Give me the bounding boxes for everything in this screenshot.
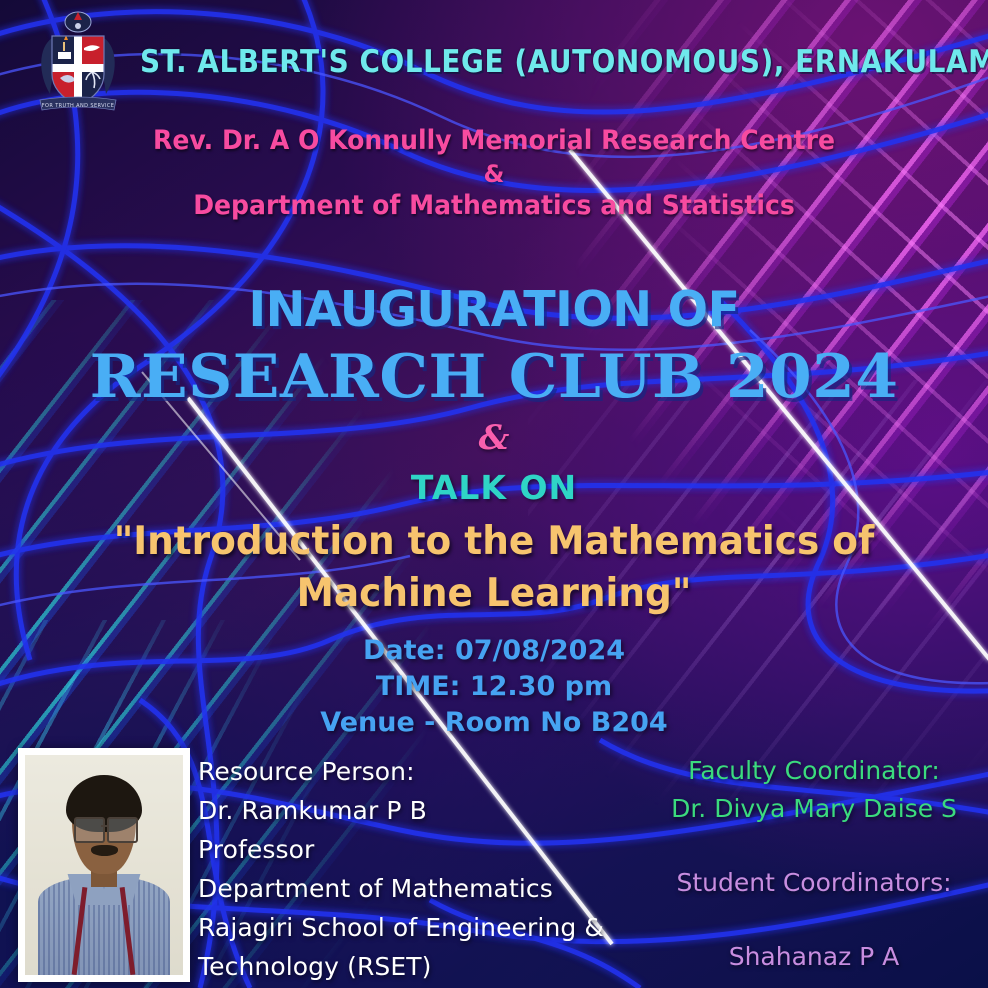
college-name-heading: ST. ALBERT'S COLLEGE (AUTONOMOUS), ERNAK… — [140, 44, 860, 80]
organizer-ampersand: & — [0, 160, 988, 188]
talk-on-label: TALK ON — [0, 468, 988, 507]
resource-person-institution-2: Technology (RSET) — [198, 947, 638, 986]
svg-text:FOR TRUTH AND SERVICE: FOR TRUTH AND SERVICE — [42, 103, 115, 109]
photo-glasses-left — [74, 817, 105, 843]
event-venue: Venue - Room No B204 — [0, 705, 988, 741]
resource-person-designation: Professor — [198, 830, 638, 869]
resource-person-department: Department of Mathematics — [198, 869, 638, 908]
talk-title-line-1: "Introduction to the Mathematics of — [20, 516, 968, 568]
talk-title-line-2: Machine Learning" — [20, 568, 968, 620]
organizer-block: Rev. Dr. A O Konnully Memorial Research … — [0, 125, 988, 221]
event-date: Date: 07/08/2024 — [0, 633, 988, 669]
resource-person-photo-frame — [18, 748, 190, 982]
photo-glasses-bridge — [101, 825, 109, 827]
student-coordinator-name-1: Shahanaz P A — [640, 938, 988, 976]
faculty-coordinator-name: Dr. Divya Mary Daise S — [640, 790, 988, 828]
coordinators-block: Faculty Coordinator: Dr. Divya Mary Dais… — [640, 752, 988, 988]
event-ampersand: & — [0, 418, 988, 458]
department-name: Department of Mathematics and Statistics — [35, 190, 954, 221]
talk-title-block: "Introduction to the Mathematics of Mach… — [20, 516, 968, 620]
college-crest-icon: FOR TRUTH AND SERVICE — [30, 8, 126, 116]
research-centre-name: Rev. Dr. A O Konnully Memorial Research … — [35, 125, 954, 156]
headline-line-2: RESEARCH CLUB 2024 — [0, 342, 988, 412]
event-headline-block: INAUGURATION OF RESEARCH CLUB 2024 — [0, 281, 988, 412]
event-time: TIME: 12.30 pm — [0, 669, 988, 705]
event-poster: FOR TRUTH AND SERVICE ST. ALBERT'S COLLE… — [0, 0, 988, 988]
resource-person-block: Resource Person: Dr. Ramkumar P B Profes… — [198, 752, 638, 986]
resource-person-institution-1: Rajagiri School of Engineering & — [198, 908, 638, 947]
photo-glasses-right — [107, 817, 138, 843]
resource-person-photo — [25, 755, 183, 975]
student-coordinators-label: Student Coordinators: — [640, 864, 988, 902]
resource-person-label: Resource Person: — [198, 752, 638, 791]
faculty-coordinator-label: Faculty Coordinator: — [640, 752, 988, 790]
event-details-block: Date: 07/08/2024 TIME: 12.30 pm Venue - … — [0, 633, 988, 741]
headline-line-1: INAUGURATION OF — [15, 281, 973, 338]
resource-person-name: Dr. Ramkumar P B — [198, 791, 638, 830]
